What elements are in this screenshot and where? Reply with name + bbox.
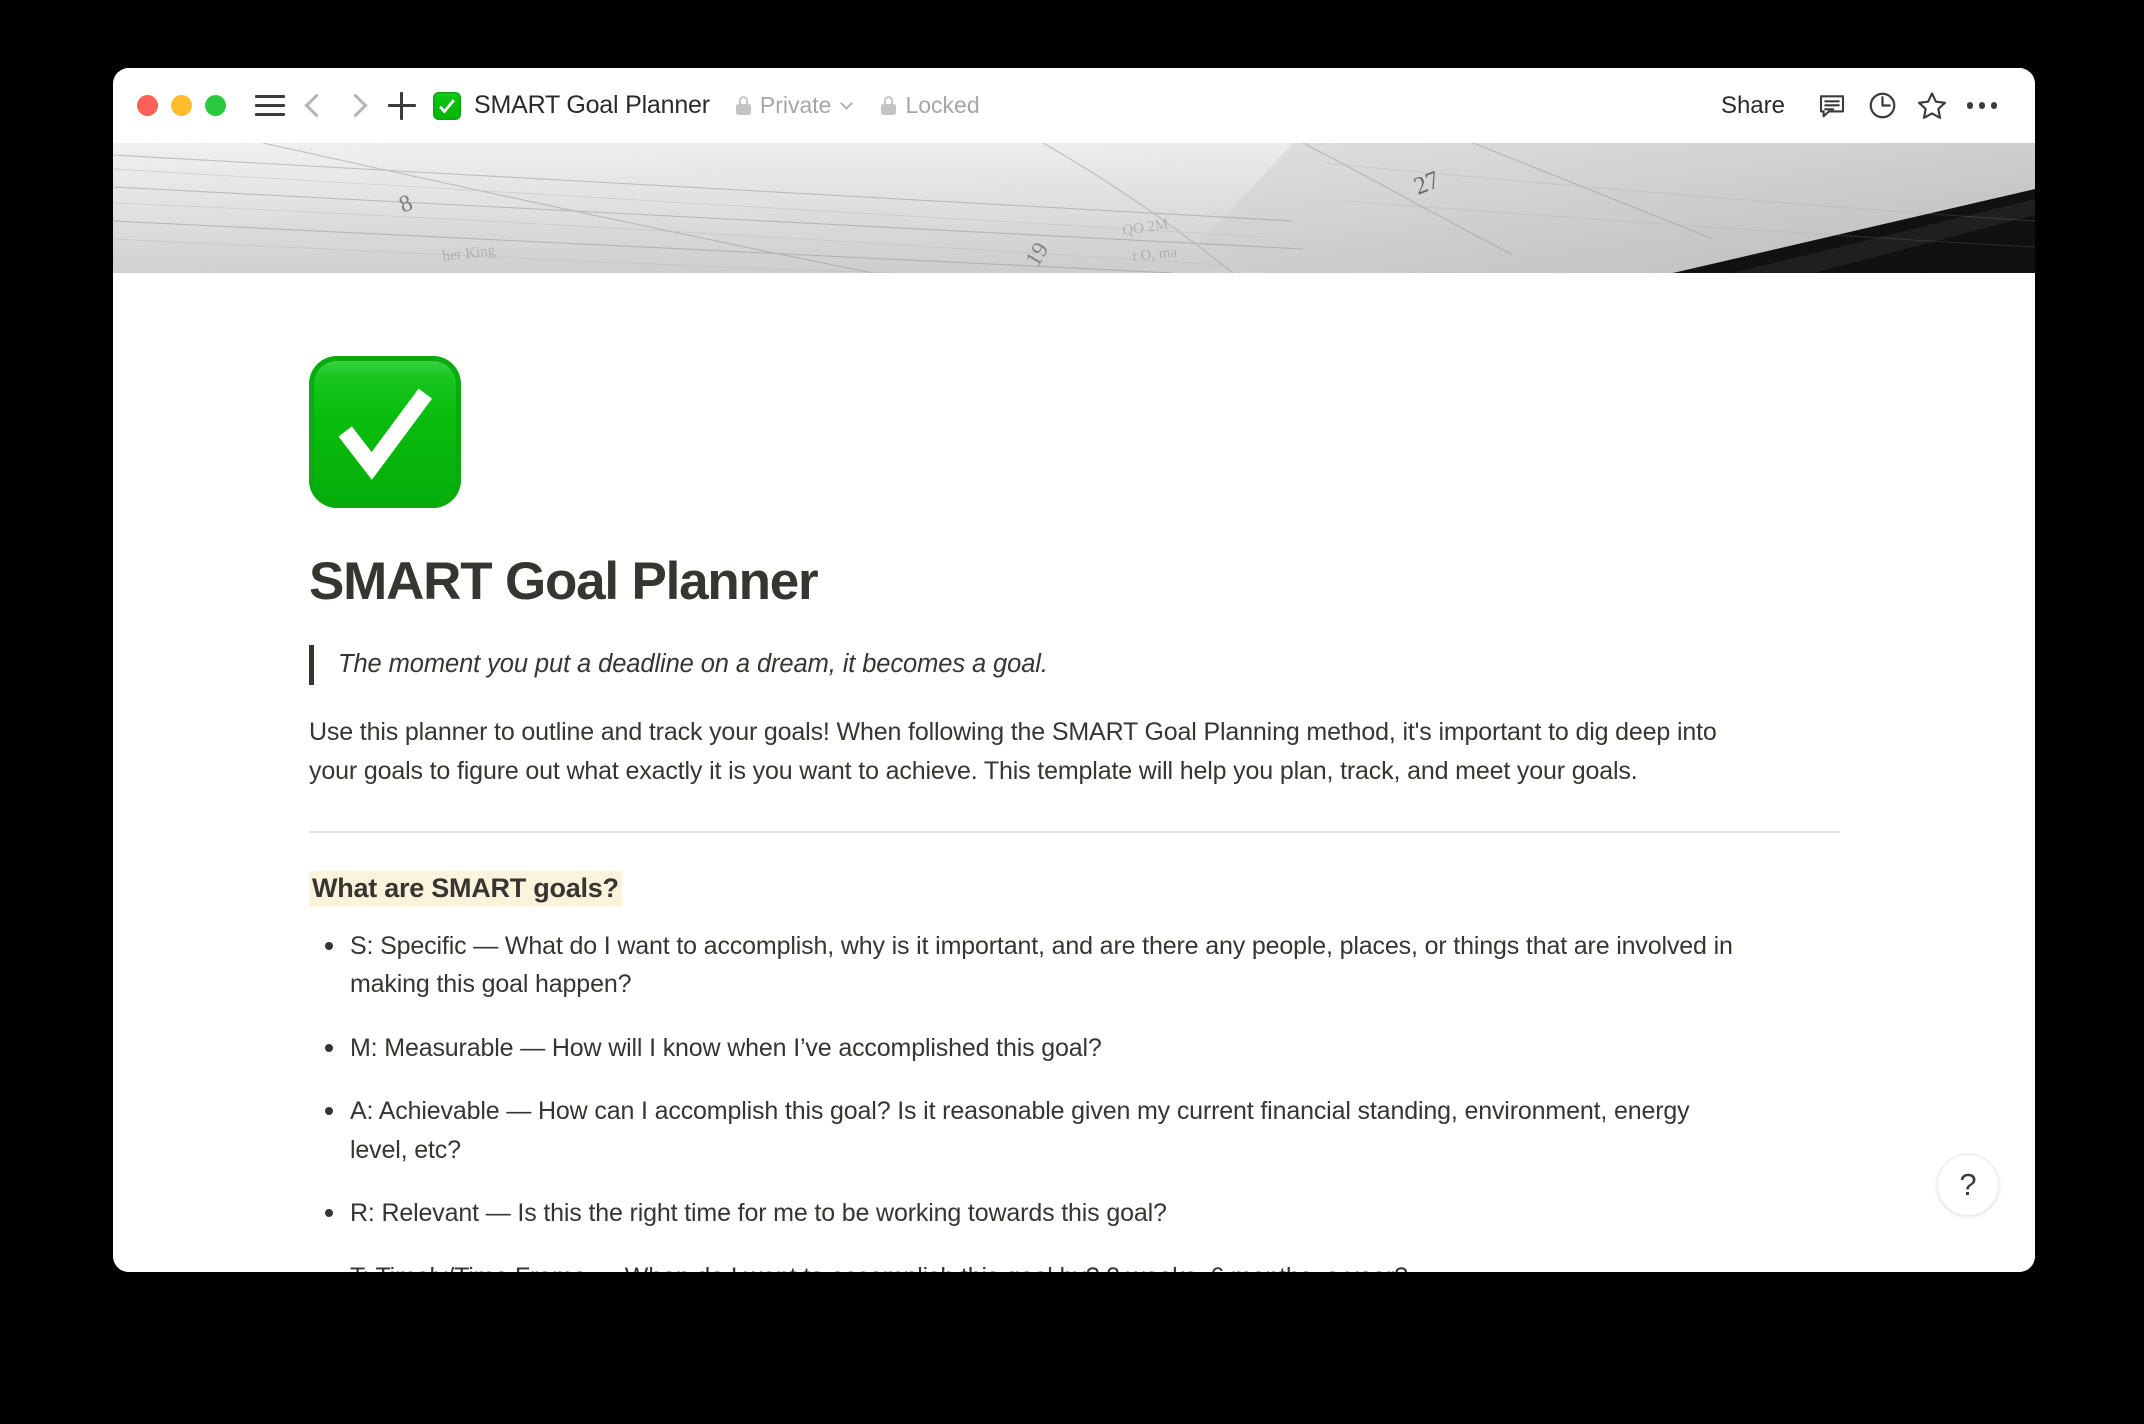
page-emoji-icon[interactable] [309, 356, 461, 508]
minimize-window-button[interactable] [171, 95, 192, 116]
sidebar-toggle-button[interactable] [248, 84, 292, 128]
page-cover-image[interactable]: 8 19 27 her King QO 2M t O, ma [113, 143, 2035, 273]
breadcrumb-page-title[interactable]: SMART Goal Planner [474, 91, 710, 120]
lock-icon [736, 96, 751, 115]
lock-status-label: Locked [905, 92, 979, 119]
plus-icon [388, 92, 416, 120]
chevron-right-icon [343, 93, 367, 117]
app-window: SMART Goal Planner Private Locked Share [113, 68, 2035, 1272]
quote-block[interactable]: The moment you put a deadline on a dream… [309, 645, 1849, 685]
privacy-label: Private [760, 92, 832, 119]
new-page-button[interactable] [380, 84, 424, 128]
titlebar: SMART Goal Planner Private Locked Share [113, 68, 2035, 143]
navigate-forward-button[interactable] [336, 84, 380, 128]
smart-goals-list: S: Specific — What do I want to accompli… [309, 927, 1849, 1272]
chevron-down-icon [841, 97, 854, 110]
section-heading-smart-goals[interactable]: What are SMART goals? [309, 871, 622, 907]
page-content: SMART Goal Planner The moment you put a … [113, 273, 2035, 1272]
quote-text: The moment you put a deadline on a dream… [338, 645, 1048, 683]
favorite-button[interactable] [1907, 84, 1957, 128]
help-button[interactable]: ? [1937, 1154, 1999, 1216]
list-item[interactable]: R: Relevant — Is this the right time for… [309, 1194, 1744, 1233]
intro-paragraph[interactable]: Use this planner to outline and track yo… [309, 713, 1734, 791]
comments-button[interactable] [1807, 84, 1857, 128]
share-button[interactable]: Share [1721, 92, 1785, 120]
privacy-selector[interactable]: Private [736, 92, 852, 119]
divider [309, 831, 1839, 833]
clock-icon [1867, 90, 1898, 121]
list-item[interactable]: S: Specific — What do I want to accompli… [309, 927, 1744, 1004]
titlebar-actions: Share [1721, 84, 2007, 128]
more-options-button[interactable] [1957, 84, 2007, 128]
lock-status[interactable]: Locked [881, 92, 979, 119]
navigate-back-button[interactable] [292, 84, 336, 128]
lock-icon [881, 96, 896, 115]
list-item[interactable]: A: Achievable — How can I accomplish thi… [309, 1092, 1744, 1169]
quote-bar [309, 645, 314, 685]
ellipsis-icon [1967, 102, 1998, 109]
chevron-left-icon [304, 93, 328, 117]
hamburger-icon [255, 95, 285, 116]
white-check-mark-emoji [326, 373, 444, 491]
star-icon [1916, 90, 1948, 122]
comment-icon [1817, 91, 1847, 121]
maximize-window-button[interactable] [205, 95, 226, 116]
cover-photo: 8 19 27 her King QO 2M t O, ma [113, 143, 2035, 273]
close-window-button[interactable] [137, 95, 158, 116]
page-history-button[interactable] [1857, 84, 1907, 128]
list-item[interactable]: T: Timely/Time Frame — When do I want to… [309, 1258, 1744, 1272]
document-body: SMART Goal Planner The moment you put a … [309, 553, 1849, 1272]
page-title[interactable]: SMART Goal Planner [309, 553, 1849, 611]
white-check-mark-emoji [433, 92, 461, 120]
traffic-lights [137, 95, 226, 116]
list-item[interactable]: M: Measurable — How will I know when I’v… [309, 1029, 1744, 1068]
